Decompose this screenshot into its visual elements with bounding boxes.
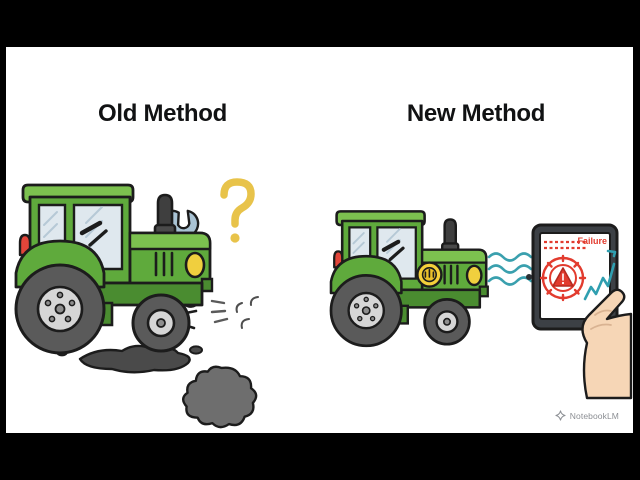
rear-wheel <box>16 265 104 353</box>
rear-wheel <box>331 275 401 345</box>
front-wheel <box>425 299 470 344</box>
sensor-badge <box>417 263 441 287</box>
tablet-alert-label: Failure <box>577 236 607 246</box>
question-mark-icon <box>224 182 251 243</box>
new-method-illustration: Failure <box>319 147 633 387</box>
notebooklm-watermark-label: NotebookLM <box>570 411 619 421</box>
signal-waves <box>489 254 531 285</box>
notebooklm-spark-icon <box>555 410 566 421</box>
smoke-cloud <box>183 297 258 427</box>
front-wheel <box>133 295 189 351</box>
old-method-illustration <box>6 147 319 387</box>
panel-new-method: Failure <box>319 147 633 387</box>
screenshot-frame: Old Method New Method <box>0 0 640 480</box>
page-title-old-method: Old Method <box>6 100 319 128</box>
slide-canvas: Old Method New Method <box>6 47 633 433</box>
page-title-new-method: New Method <box>319 100 633 128</box>
notebooklm-watermark: NotebookLM <box>555 410 619 421</box>
green-tractor <box>331 211 488 345</box>
green-tractor <box>16 185 212 353</box>
panel-old-method <box>6 147 319 387</box>
